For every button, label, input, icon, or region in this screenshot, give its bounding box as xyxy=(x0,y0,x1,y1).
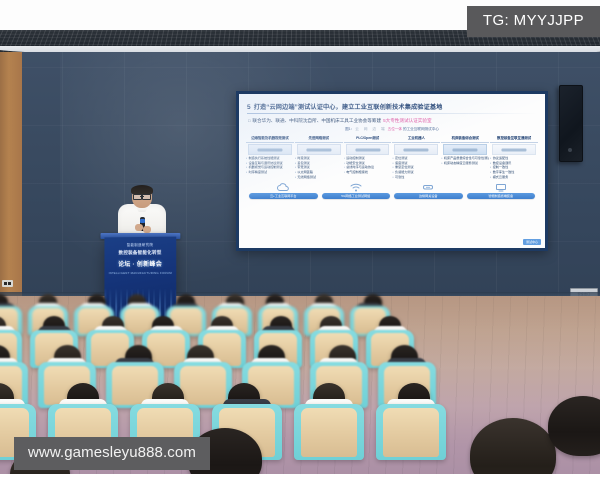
speaker-hand-right xyxy=(143,226,151,233)
platform-button[interactable]: 边缘网关设备 xyxy=(394,193,463,199)
projection-screen-frame: 5 打造“云网边端”测试认证中心，建立工业互联创新技术集成验证基地 □ 联合华为… xyxy=(236,91,548,251)
table-item-label: 机床动态精度云服务测试 xyxy=(444,161,478,166)
bullet-dot-icon: • xyxy=(295,175,296,180)
bullet-dot-icon: • xyxy=(392,175,393,180)
table-column-header: 边缘智能及机器视觉测试 xyxy=(246,136,294,143)
wall-speaker-box xyxy=(559,85,583,162)
capability-table: 边缘智能及机器视觉测试•制造执行系统性能测试•设备互联与通讯协议测试•机器视觉与… xyxy=(245,136,539,180)
bullet-marker: □ xyxy=(248,118,250,123)
bullet-highlight: 5大专性测试认证实验室 xyxy=(383,118,432,124)
table-column-thumbnail xyxy=(492,144,536,155)
caption-suffix: 的工业互联网测试中心 xyxy=(403,127,439,131)
podium-line-3: INTELLIGENT MANUFACTURING FORUM xyxy=(104,271,176,275)
table-column-header: 工业机器人 xyxy=(392,136,440,143)
bullet-dot-icon: • xyxy=(490,175,491,180)
seat-cushion xyxy=(301,408,357,456)
table-column-header: PLC/Open测试 xyxy=(344,136,392,143)
platform-button[interactable]: 智能制造终端装备 xyxy=(467,193,536,199)
bullet-text: 联合华为、联通、中科院沈自所、中国机床工具工业协会等筹建 xyxy=(252,118,381,124)
table-column: PLC/Open测试•运动控制测试•功能安全测试•总线时序与运动协议•电气控制柜… xyxy=(344,136,392,180)
conference-hall-scene: 安全出口 5 打造“云网边端”测试认证中心，建立工业互联创新技术集成验证基地 □… xyxy=(0,0,600,480)
table-column: 工业机器人•定位测试•速度测试•重复定位测试•负载能力测试•可靠性 xyxy=(392,136,440,180)
table-item-list: •制造执行系统性能测试•设备互联与通讯协议测试•机器视觉与运动控制测试•时序精度… xyxy=(246,156,294,175)
auditorium-seat xyxy=(376,404,446,460)
title-underline xyxy=(247,113,537,114)
table-item-label: 时序精度测试 xyxy=(249,170,268,175)
slide-bullet-row: □ 联合华为、联通、中科院沈自所、中国机床工具工业协会等筹建 5大专性测试认证实… xyxy=(248,118,539,124)
podium-line-1: 数控装备智能化转型 xyxy=(104,250,176,257)
table-item: •机床动态精度云服务测试 xyxy=(441,161,489,166)
slide-number: 5 xyxy=(247,104,251,111)
table-column: 机床装备综合测试•机床产品质量综合性与可靠性测试•机床动态精度云服务测试 xyxy=(441,136,489,180)
table-column-thumbnail xyxy=(346,144,390,155)
wifi-icon xyxy=(322,182,391,192)
auditorium-seat xyxy=(294,404,364,460)
table-column-header: 先进网络测试 xyxy=(295,136,343,143)
table-column-thumbnail xyxy=(394,144,438,155)
edge-icon xyxy=(394,182,463,192)
table-item: •模式云服务 xyxy=(490,175,538,180)
cloud-icon xyxy=(249,182,318,192)
wooden-column-left xyxy=(0,52,22,312)
table-column-thumbnail xyxy=(248,144,292,155)
bullet-dot-icon: • xyxy=(441,161,442,166)
table-column: 数控装备互联互通测试•协议适配性•数控设备通讯•控制一致性•数字孪生一致性•模式… xyxy=(490,136,538,180)
podium-logo: 智能制造研究院 xyxy=(104,242,176,248)
bullet-dot-icon: • xyxy=(246,170,247,175)
platform-button-cell: 边缘网关设备 xyxy=(394,182,463,199)
projection-screen: 5 打造“云网边端”测试认证中心，建立工业互联创新技术集成验证基地 □ 联合华为… xyxy=(239,94,545,248)
table-column-header: 机床装备综合测试 xyxy=(441,136,489,143)
bullet-dot-icon: • xyxy=(344,170,345,175)
table-column-header: 数控装备互联互通测试 xyxy=(490,136,538,143)
table-column: 先进网络测试•时延测试•丢包测试•带宽测试•以太网链路•无线网络测试 xyxy=(295,136,343,180)
glasses-bridge xyxy=(140,196,144,197)
table-item-label: 模式云服务 xyxy=(493,175,508,180)
platform-button-cell: 智能制造终端装备 xyxy=(467,182,536,199)
site-watermark: www.gamesleyu888.com xyxy=(14,437,210,470)
table-item: •可靠性 xyxy=(392,175,440,180)
seat-cushion xyxy=(180,366,226,406)
table-item-list: •定位测试•速度测试•重复定位测试•负载能力测试•可靠性 xyxy=(392,156,440,179)
seat-cushion xyxy=(383,408,439,456)
table-item-list: •机床产品质量综合性与可靠性测试•机床动态精度云服务测试 xyxy=(441,156,489,165)
presentation-slide: 5 打造“云网边端”测试认证中心，建立工业互联创新技术集成验证基地 □ 联合华为… xyxy=(239,94,545,248)
platform-button-cell: 云+工业互联网平台 xyxy=(249,182,318,199)
table-item-label: 无线网络测试 xyxy=(297,175,316,180)
corner-stamp: 测试中心 xyxy=(523,239,541,245)
slide-title: 打造“云网边端”测试认证中心，建立工业互联创新技术集成验证基地 xyxy=(254,102,443,111)
table-item: •无线网络测试 xyxy=(295,175,343,180)
platform-button[interactable]: 云+工业互联网平台 xyxy=(249,193,318,199)
speaker-hand-left xyxy=(135,224,143,231)
podium-line-2: 论坛 · 创新峰会 xyxy=(104,259,176,268)
screenshot-root: 安全出口 5 打造“云网边端”测试认证中心，建立工业互联创新技术集成验证基地 □… xyxy=(0,0,600,480)
caption-highlight: 五位一体 xyxy=(388,127,402,131)
telegram-badge: TG: MYYJJPP xyxy=(467,6,600,37)
power-outlet-icon xyxy=(2,280,13,287)
platform-button[interactable]: 5G网络工业测试网络 xyxy=(322,193,391,199)
slide-title-row: 5 打造“云网边端”测试认证中心，建立工业互联创新技术集成验证基地 xyxy=(247,102,539,111)
table-item-list: •协议适配性•数控设备通讯•控制一致性•数字孪生一致性•模式云服务 xyxy=(490,156,538,179)
caption-spacer: 云 网 边 端 xyxy=(355,127,386,131)
platform-button-row: 云+工业互联网平台5G网络工业测试网络边缘网关设备智能制造终端装备 xyxy=(245,182,539,199)
table-item-list: •时延测试•丢包测试•带宽测试•以太网链路•无线网络测试 xyxy=(295,156,343,179)
platform-button-cell: 5G网络工业测试网络 xyxy=(322,182,391,199)
bottom-letterbox xyxy=(0,474,600,480)
table-item-label: 电气控制柜接线 xyxy=(346,170,368,175)
table-item: •电气控制柜接线 xyxy=(344,170,392,175)
table-column-thumbnail xyxy=(297,144,341,155)
table-item: •时序精度测试 xyxy=(246,170,294,175)
table-column: 边缘智能及机器视觉测试•制造执行系统性能测试•设备互联与通讯协议测试•机器视觉与… xyxy=(246,136,294,180)
caption-prefix: 图1： xyxy=(345,127,354,131)
table-item-list: •运动控制测试•功能安全测试•总线时序与运动协议•电气控制柜接线 xyxy=(344,156,392,175)
table-column-thumbnail xyxy=(443,144,487,155)
audience-member-head xyxy=(470,418,556,480)
audience-member-head xyxy=(548,396,600,456)
device-icon xyxy=(467,182,536,192)
slide-caption: 图1： 云 网 边 端 五位一体 的工业互联网测试中心 xyxy=(245,127,539,132)
table-item-label: 可靠性 xyxy=(395,175,404,180)
